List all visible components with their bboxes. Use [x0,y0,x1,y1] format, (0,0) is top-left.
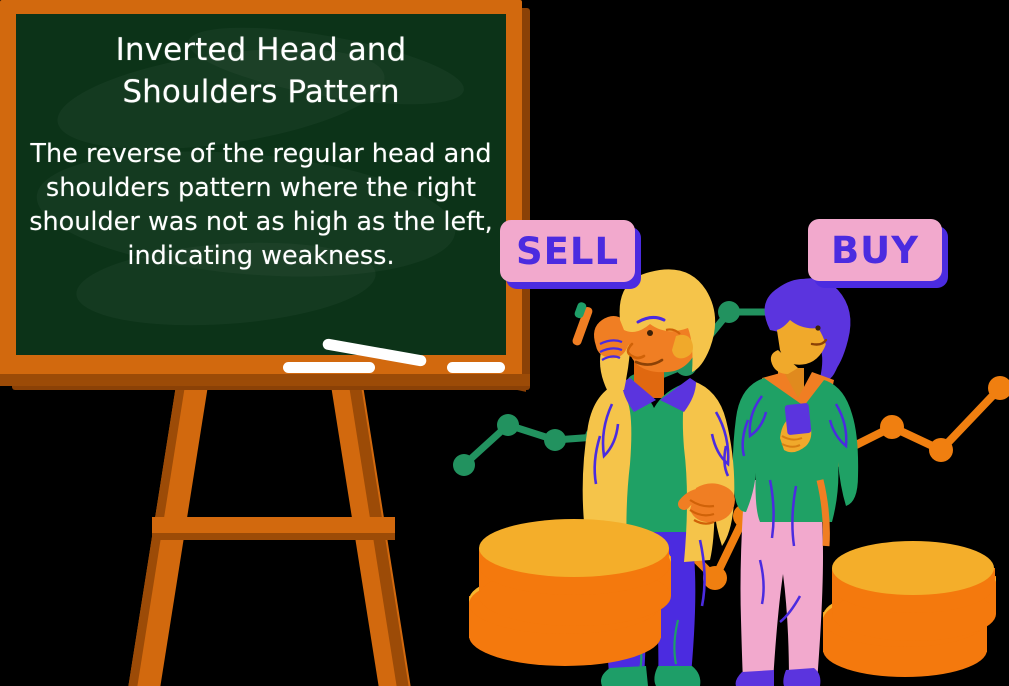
sell-button-label: SELL [516,230,619,273]
board-description: The reverse of the regular head and shou… [22,138,500,274]
easel-crossbar-shadow [152,533,395,540]
board-title-line-1: Inverted Head and [16,30,506,72]
chalkboard-frame: Inverted Head and Shoulders Pattern The … [0,0,522,384]
chalkboard-surface: Inverted Head and Shoulders Pattern The … [16,14,506,370]
chalk-stick [447,362,505,373]
board-title: Inverted Head and Shoulders Pattern [16,30,506,114]
board-title-line-2: Shoulders Pattern [16,72,506,114]
chalk-stick [283,362,375,373]
sell-button[interactable]: SELL [500,220,635,282]
illustration-canvas: Inverted Head and Shoulders Pattern The … [0,0,1009,686]
coin-stack-right [823,541,996,677]
easel-with-chalkboard: Inverted Head and Shoulders Pattern The … [0,0,540,686]
chalk-ledge-shadow [0,374,530,386]
buy-button-label: BUY [831,229,919,272]
buy-button[interactable]: BUY [808,219,942,281]
